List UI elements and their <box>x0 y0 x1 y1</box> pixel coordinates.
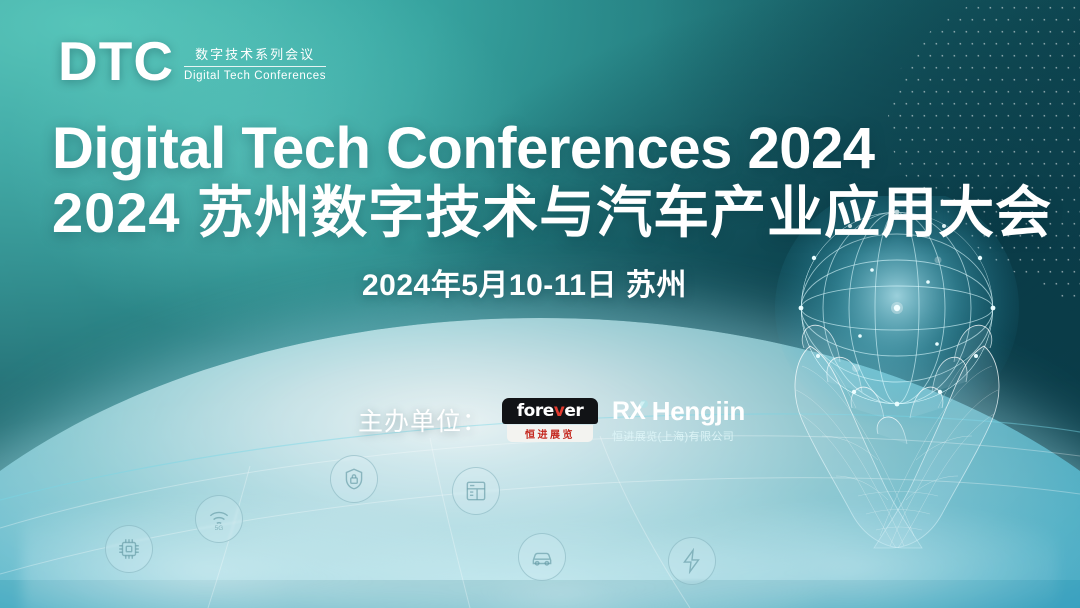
forever-wordmark: forever <box>517 401 584 421</box>
conference-banner: 5G <box>0 0 1080 608</box>
title-chinese: 2024 苏州数字技术与汽车产业应用大会 <box>52 181 1042 245</box>
sponsor-row: 主办单位： forever 恒进展览 RX Hengjin 恒进展览(上海)有限… <box>358 396 745 444</box>
forever-cn-name: 恒进展览 <box>525 426 575 441</box>
dtc-wordmark: DTC <box>58 36 174 87</box>
forever-cn-plate: 恒进展览 <box>507 425 593 442</box>
forever-accent-v: v <box>554 401 565 421</box>
rx-hengjin-row: RX Hengjin <box>612 396 745 427</box>
shield-lock-icon <box>330 455 378 503</box>
dtc-tagline-block: 数字技术系列会议 Digital Tech Conferences <box>184 44 326 87</box>
forever-wordmark-box: forever <box>502 398 598 424</box>
rx-mark: RX <box>612 397 645 426</box>
forever-text-pre: fore <box>517 401 554 421</box>
sponsor-logo-rx-hengjin: RX Hengjin 恒进展览(上海)有限公司 <box>612 396 745 444</box>
server-rack-icon <box>452 467 500 515</box>
dtc-tagline-en: Digital Tech Conferences <box>184 67 326 82</box>
car-vehicle-icon <box>518 533 566 581</box>
title-english: Digital Tech Conferences 2024 <box>52 118 1042 181</box>
sponsor-logo-forever: forever 恒进展览 <box>502 398 598 442</box>
rx-hengjin-cn-name: 恒进展览(上海)有限公司 <box>612 428 734 444</box>
wifi-5g-icon: 5G <box>195 495 243 543</box>
date-and-location: 2024年5月10-11日 苏州 <box>362 260 1042 304</box>
cpu-chip-icon <box>105 525 153 573</box>
headline-block: Digital Tech Conferences 2024 2024 苏州数字技… <box>52 118 1042 304</box>
rx-dot-icon <box>640 400 648 408</box>
dtc-tagline-cn: 数字技术系列会议 <box>184 44 326 67</box>
sponsor-label: 主办单位： <box>358 402 488 438</box>
lightning-bolt-icon <box>668 537 716 585</box>
forever-text-post: er <box>564 401 583 421</box>
rx-hengjin-name: Hengjin <box>652 396 745 427</box>
svg-text:5G: 5G <box>215 525 224 532</box>
dtc-logo: DTC 数字技术系列会议 Digital Tech Conferences <box>58 36 326 87</box>
